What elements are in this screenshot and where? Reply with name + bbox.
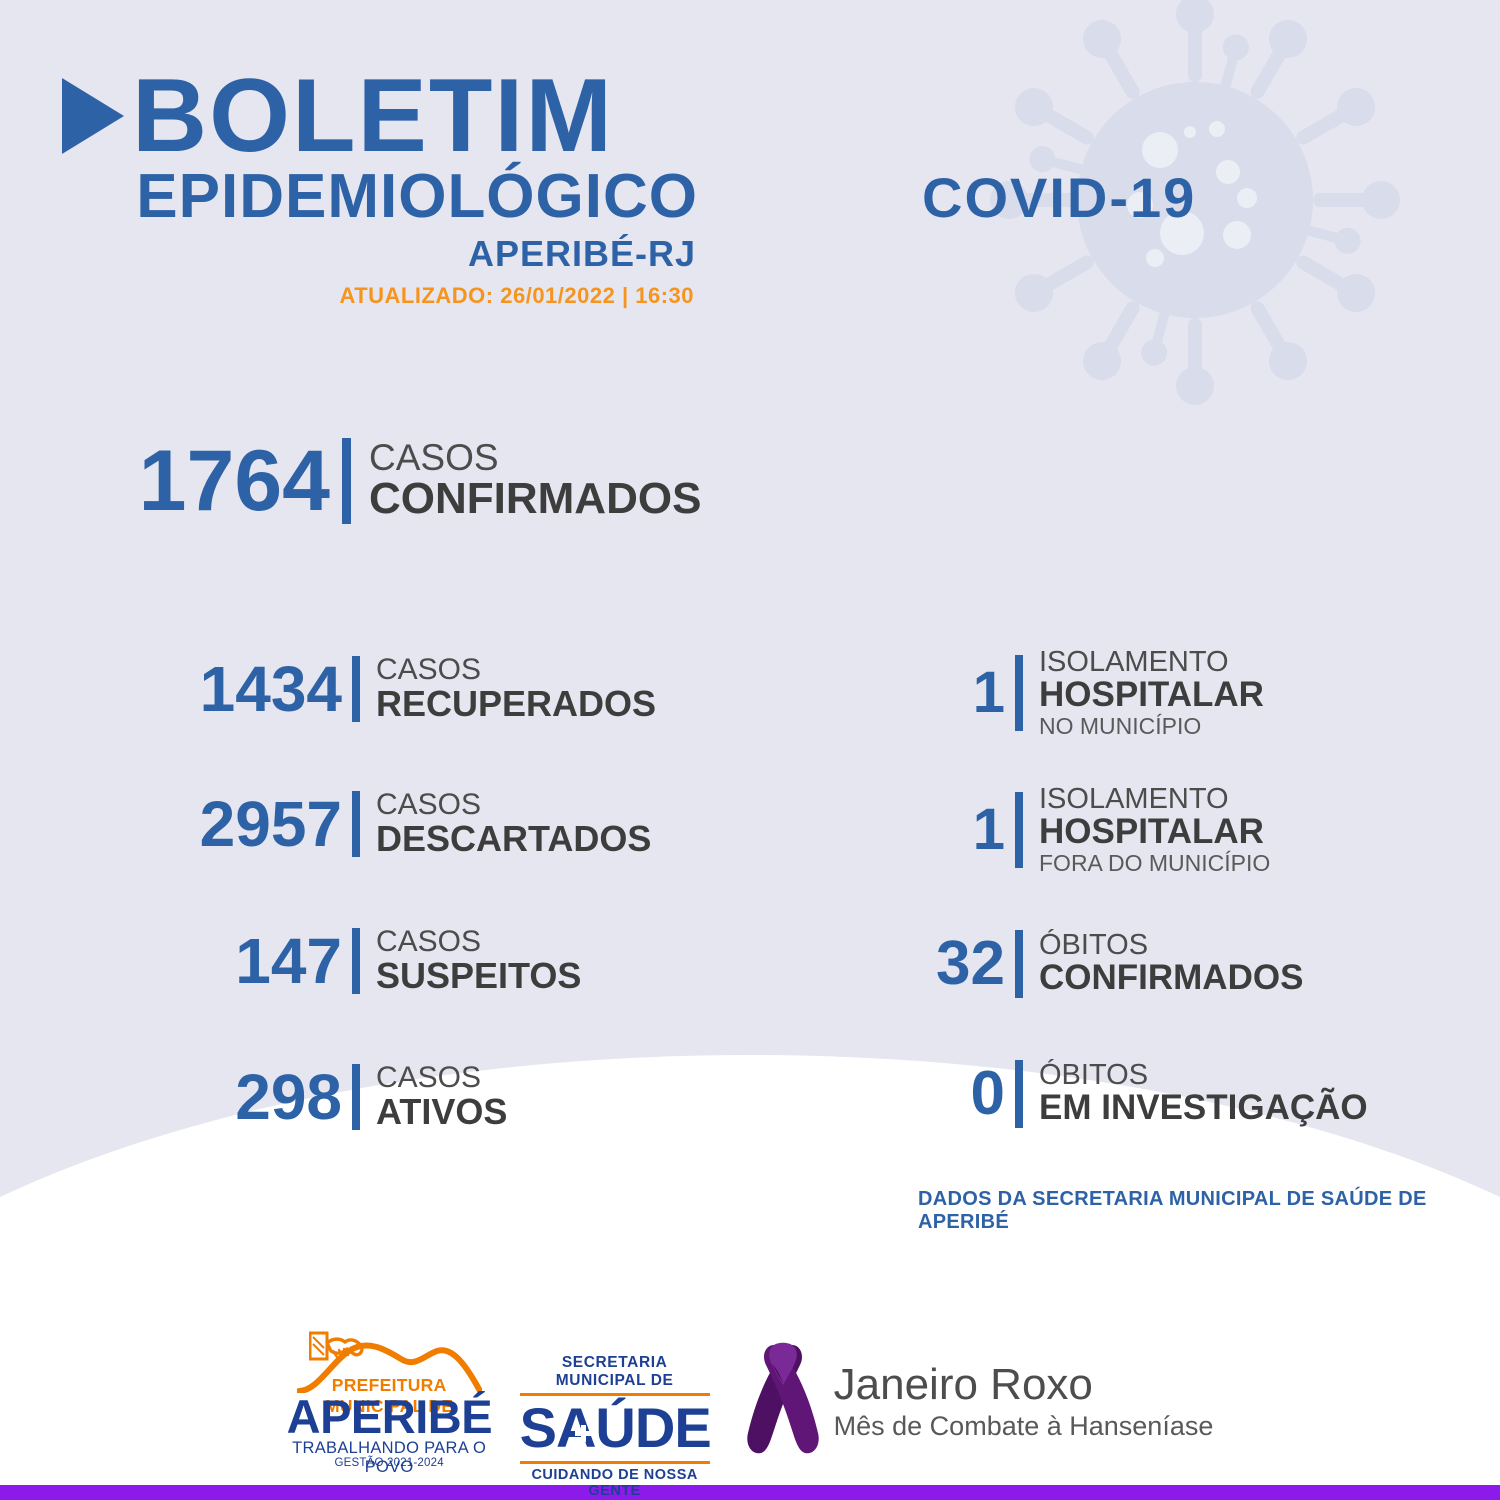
stat-label-main: HOSPITALAR xyxy=(1039,814,1270,851)
stat-divider xyxy=(1015,655,1023,731)
stat-casos-descartados: 2957 CASOS DESCARTADOS xyxy=(160,790,651,858)
stat-casos-ativos: 298 CASOS ATIVOS xyxy=(160,1063,507,1131)
stat-divider xyxy=(342,438,351,524)
stat-labels: CASOS ATIVOS xyxy=(376,1063,507,1131)
stat-labels: CASOS SUSPEITOS xyxy=(376,927,581,995)
stat-label-top: CASOS xyxy=(376,790,651,820)
medical-cross-icon xyxy=(575,1425,592,1442)
stat-label-top: CASOS xyxy=(376,1063,507,1093)
stat-value: 0 xyxy=(905,1063,1005,1125)
stat-casos-recuperados: 1434 CASOS RECUPERADOS xyxy=(160,655,656,723)
logo-prefeitura-aperibe: PREFEITURA MUNICIPAL DE APERIBÉ TRABALHA… xyxy=(287,1327,492,1467)
data-source-attribution: DADOS DA SECRETARIA MUNICIPAL DE SAÚDE D… xyxy=(918,1188,1500,1234)
stat-value: 1 xyxy=(905,664,1005,722)
stat-label-main: HOSPITALAR xyxy=(1039,677,1264,714)
janeiro-subtitle: Mês de Combate à Hanseníase xyxy=(834,1411,1214,1442)
stat-label-top: CASOS xyxy=(376,655,656,685)
play-triangle-icon xyxy=(62,78,124,154)
stat-label-top: ISOLAMENTO xyxy=(1039,648,1264,677)
stat-label-top: CASOS xyxy=(369,439,701,476)
page-title: BOLETIM xyxy=(132,64,614,168)
prefeitura-gestao: GESTÃO 2021-2024 xyxy=(287,1457,492,1469)
stat-value: 1434 xyxy=(160,657,342,721)
bottom-accent-bar xyxy=(0,1485,1500,1500)
stat-divider xyxy=(1015,930,1023,998)
stat-divider xyxy=(1015,792,1023,868)
stat-label-top: ÓBITOS xyxy=(1039,1061,1368,1090)
title-block: BOLETIM EPIDEMIOLÓGICO APERIBÉ-RJ ATUALI… xyxy=(62,70,702,309)
page-subtitle: EPIDEMIOLÓGICO xyxy=(62,164,702,229)
covid-label: COVID-19 xyxy=(922,165,1196,230)
stat-divider xyxy=(352,791,360,857)
stat-value: 1 xyxy=(905,801,1005,859)
boletim-row: BOLETIM xyxy=(62,70,702,162)
stat-divider xyxy=(1015,1060,1023,1128)
stat-isolamento-hospitalar-municipio: 1 ISOLAMENTO HOSPITALAR NO MUNICÍPIO xyxy=(905,648,1264,738)
awareness-ribbon-icon xyxy=(738,1335,828,1460)
stat-isolamento-hospitalar-fora: 1 ISOLAMENTO HOSPITALAR FORA DO MUNICÍPI… xyxy=(905,785,1270,875)
stat-label-main: DESCARTADOS xyxy=(376,820,651,858)
stat-label-main: ATIVOS xyxy=(376,1093,507,1131)
stat-label-top: CASOS xyxy=(376,927,581,957)
saude-line1: SECRETARIA MUNICIPAL DE xyxy=(520,1354,710,1390)
stat-labels: CASOS DESCARTADOS xyxy=(376,790,651,858)
stat-value: 298 xyxy=(160,1065,342,1129)
stat-divider xyxy=(352,928,360,994)
stat-label-top: ISOLAMENTO xyxy=(1039,785,1270,814)
stat-label-main: CONFIRMADOS xyxy=(1039,960,1303,997)
location-label: APERIBÉ-RJ xyxy=(62,233,702,275)
stat-casos-confirmados: 1764 CASOS CONFIRMADOS xyxy=(110,438,701,524)
logo-secretaria-saude: SECRETARIA MUNICIPAL DE SAÚDE CUIDANDO D… xyxy=(520,1342,710,1452)
handshake-icon xyxy=(309,1329,365,1375)
stat-divider xyxy=(352,1064,360,1130)
stat-label-top: ÓBITOS xyxy=(1039,931,1303,960)
stat-labels: ÓBITOS CONFIRMADOS xyxy=(1039,931,1303,997)
stat-label-sub: FORA DO MUNICÍPIO xyxy=(1039,851,1270,875)
janeiro-text: Janeiro Roxo Mês de Combate à Hanseníase xyxy=(834,1352,1214,1441)
stat-labels: ISOLAMENTO HOSPITALAR FORA DO MUNICÍPIO xyxy=(1039,785,1270,875)
logo-janeiro-roxo: Janeiro Roxo Mês de Combate à Hanseníase xyxy=(738,1335,1214,1460)
stat-label-main: EM INVESTIGAÇÃO xyxy=(1039,1090,1368,1127)
stat-label-main: CONFIRMADOS xyxy=(369,476,701,522)
stat-divider xyxy=(352,656,360,722)
janeiro-title: Janeiro Roxo xyxy=(834,1362,1214,1408)
stat-value: 1764 xyxy=(110,438,330,524)
stat-label-main: RECUPERADOS xyxy=(376,685,656,723)
stat-labels: ÓBITOS EM INVESTIGAÇÃO xyxy=(1039,1061,1368,1127)
saude-rule-bottom xyxy=(520,1461,710,1464)
stat-value: 147 xyxy=(160,929,342,993)
saude-name-text: SAÚDE xyxy=(520,1396,711,1459)
stat-obitos-em-investigacao: 0 ÓBITOS EM INVESTIGAÇÃO xyxy=(905,1060,1368,1128)
stat-value: 32 xyxy=(905,933,1005,995)
stat-obitos-confirmados: 32 ÓBITOS CONFIRMADOS xyxy=(905,930,1303,998)
stat-labels: ISOLAMENTO HOSPITALAR NO MUNICÍPIO xyxy=(1039,648,1264,738)
saude-name: SAÚDE xyxy=(520,1399,710,1458)
prefeitura-name: APERIBÉ xyxy=(287,1393,492,1440)
updated-timestamp: ATUALIZADO: 26/01/2022 | 16:30 xyxy=(62,283,702,309)
stat-label-sub: NO MUNICÍPIO xyxy=(1039,714,1264,738)
stat-labels: CASOS RECUPERADOS xyxy=(376,655,656,723)
stat-labels: CASOS CONFIRMADOS xyxy=(369,439,701,522)
stat-label-main: SUSPEITOS xyxy=(376,957,581,995)
stat-casos-suspeitos: 147 CASOS SUSPEITOS xyxy=(160,927,581,995)
stat-value: 2957 xyxy=(160,792,342,856)
footer-logos: PREFEITURA MUNICIPAL DE APERIBÉ TRABALHA… xyxy=(0,1322,1500,1472)
saude-slogan: CUIDANDO DE NOSSA GENTE xyxy=(520,1467,710,1499)
